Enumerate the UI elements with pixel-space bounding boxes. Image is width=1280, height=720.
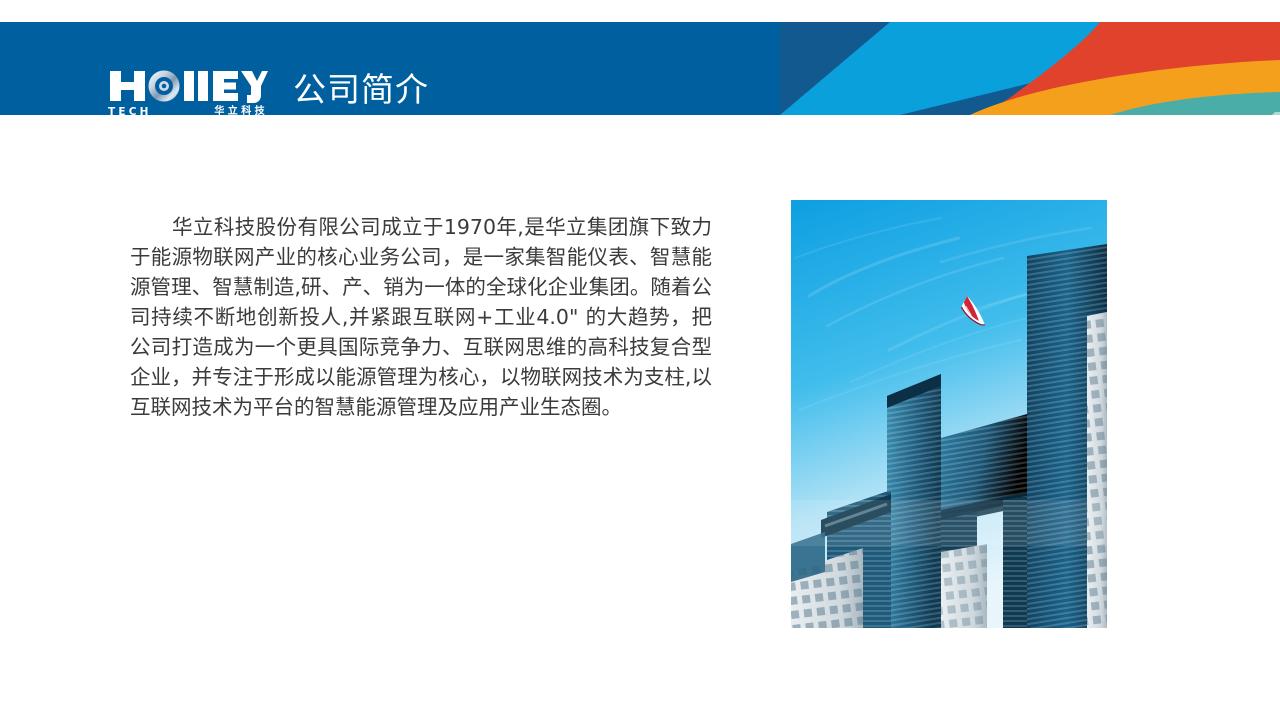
header-band: TECH 华立科技 公司简介 <box>0 22 1280 115</box>
company-intro-paragraph: 华立科技股份有限公司成立于1970年,是华立集团旗下致力于能源物联网产业的核心业… <box>130 212 712 422</box>
logo-subtitle: TECH 华立科技 <box>108 105 268 115</box>
slide-root: TECH 华立科技 公司简介 华立科技股份有限公司成立于1970年,是华立集团旗… <box>0 0 1280 720</box>
page-title: 公司简介 <box>293 67 429 113</box>
header-swoosh-decoration <box>780 22 1280 115</box>
logo-tech-label: TECH <box>108 107 152 115</box>
building-photo-illustration <box>791 200 1107 628</box>
brand-logo: TECH 华立科技 <box>108 69 268 115</box>
company-building-photo <box>791 200 1107 628</box>
holley-wordmark-icon <box>108 69 268 103</box>
logo-cn-label: 华立科技 <box>214 107 268 115</box>
